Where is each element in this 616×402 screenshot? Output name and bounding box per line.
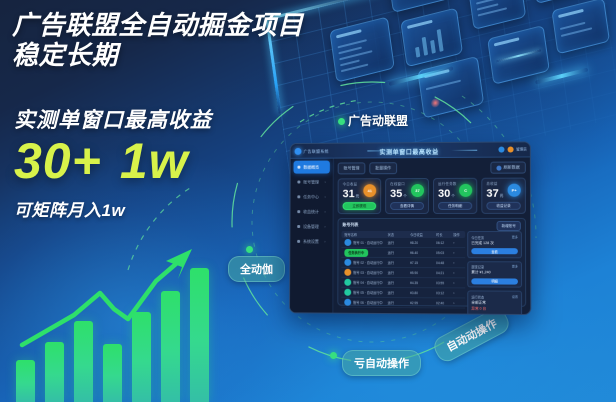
cell-status: 运行 — [388, 270, 407, 275]
info-card-value: 已完成 128 次 — [471, 241, 518, 246]
table-column-header: 操作 — [453, 232, 462, 237]
sidebar-item-label: 账号管理 — [303, 179, 319, 185]
stat-badge: C — [459, 184, 472, 197]
sidebar-item-4[interactable]: 设备管理› — [293, 220, 329, 233]
sidebar-item-5[interactable]: 系统设置› — [293, 235, 329, 248]
info-card-button[interactable]: 查看 — [471, 248, 518, 254]
sidebar-item-label: 任务中心 — [303, 194, 319, 200]
pill-auto-operation-bottom: 亏自动操作 — [342, 350, 421, 376]
cell-income: ¥2.95 — [410, 301, 433, 305]
cell-action[interactable]: › — [453, 281, 462, 285]
subheadline: 实测单窗口最高收益 — [14, 104, 212, 134]
filter-chip-row[interactable]: 账号管理批量操作刷新数据 — [338, 161, 526, 174]
headline-line-2: 稳定长期 — [12, 40, 412, 70]
cell-income: ¥8.20 — [410, 241, 433, 245]
big-number-left: 30+ — [14, 133, 102, 189]
table-column-header: 状态 — [388, 232, 407, 237]
stat-card-1: 在线窗口35 个37查看详情 — [385, 178, 429, 214]
info-card-value: 累计 ¥1,240 — [471, 270, 518, 275]
cell-income: ¥6.40 — [410, 251, 433, 255]
table-title: 账号列表 — [342, 222, 358, 228]
chevron-right-icon: › — [324, 194, 325, 199]
table-row[interactable]: 账号 06 · 自动运行中运行¥2.9502:40› — [341, 298, 465, 309]
stat-badge: P+ — [508, 184, 521, 197]
info-card-button[interactable]: 明细 — [471, 278, 518, 284]
stat-action-button[interactable]: 收益记录 — [486, 202, 520, 210]
info-card-link[interactable]: 更多 — [512, 235, 518, 239]
cell-duration: 06:12 — [436, 241, 450, 245]
cell-status: 运行 — [388, 240, 407, 245]
refresh-icon — [496, 165, 501, 170]
cell-income: ¥3.80 — [410, 291, 433, 295]
note-text: 可矩阵月入1w — [14, 196, 125, 221]
info-card-value: 全部正常 — [471, 300, 518, 305]
account-name: 账号 05 · 自动运行中 — [353, 290, 382, 295]
info-card-1: 提现记录累计 ¥1,240明细更多 — [467, 261, 522, 288]
cell-duration: 02:40 — [436, 301, 450, 305]
cell-action[interactable]: › — [453, 301, 462, 305]
sidebar-item-label: 设备管理 — [303, 224, 319, 230]
nav-bullet-icon — [297, 166, 300, 169]
filter-chip-0[interactable]: 账号管理 — [338, 162, 366, 174]
sidebar-item-label: 数据概览 — [303, 164, 319, 170]
ring-node-dot — [338, 118, 345, 125]
page-title: 广告联盟全自动掘金项目 稳定长期 — [12, 10, 412, 70]
nav-bullet-icon — [297, 210, 300, 213]
growth-bar-chart — [16, 227, 226, 402]
title-decor-right — [451, 150, 477, 151]
account-table-card: 账号列表 新增账号 账号名称状态今日收益时长操作 账号 01 · 自动运行中运行… — [337, 218, 526, 307]
dashboard-logo: 广告联盟系统 — [295, 148, 329, 155]
cell-income: ¥4.35 — [410, 281, 433, 285]
chevron-right-icon: › — [324, 209, 325, 214]
cell-account: 账号 05 · 自动运行中 — [344, 289, 384, 296]
table-row[interactable]: 账号 02 · 自动运行中运行¥7.1504:48› — [341, 258, 465, 268]
trend-arrow-icon — [16, 227, 226, 402]
avatar — [344, 279, 351, 286]
dashboard-mockup: 广告联盟系统 实测单窗口最高收益 管理员 数据概览账号管理›任务中心›收益统计›… — [289, 141, 531, 315]
cell-account: 账号 02 · 自动运行中 — [344, 259, 384, 266]
account-name: 账号 02 · 自动运行中 — [353, 260, 382, 265]
sidebar-item-label: 收益统计 — [303, 209, 319, 215]
cell-income: ¥7.15 — [410, 261, 433, 265]
status-badge: 任务执行中 — [344, 248, 368, 256]
cell-action[interactable]: › — [453, 261, 462, 265]
info-card-alert: 异常 0 台 — [471, 306, 518, 311]
dashboard-content: 账号管理批量操作刷新数据 今日收益31 元41立即提现在线窗口35 个37查看详… — [333, 157, 530, 314]
sidebar-item-1[interactable]: 账号管理› — [293, 175, 329, 188]
cell-duration: 05:03 — [436, 251, 450, 255]
chevron-right-icon: › — [324, 239, 325, 244]
account-name: 账号 03 · 自动运行中 — [353, 270, 382, 275]
ring-node-dot — [330, 352, 337, 359]
logo-icon — [295, 148, 302, 155]
cell-account: 账号 04 · 自动运行中 — [344, 279, 384, 286]
table-column-header: 账号名称 — [344, 232, 384, 237]
info-card-2: 运行状态全部正常异常 0 台刷新设置 — [467, 290, 522, 315]
big-number-right: 1w — [120, 133, 189, 189]
account-name: 账号 01 · 自动运行中 — [353, 240, 382, 245]
account-name: 账号 04 · 自动运行中 — [353, 280, 382, 285]
highlight-numbers: 30+1w — [14, 134, 189, 188]
cell-action[interactable]: › — [453, 241, 462, 245]
filter-chip-1[interactable]: 批量操作 — [369, 162, 397, 174]
avatar — [344, 239, 351, 246]
cell-income: ¥5.90 — [410, 271, 433, 275]
cell-status: 运行 — [388, 290, 407, 295]
stat-unit: 个 — [402, 194, 406, 198]
nav-bullet-icon — [297, 225, 300, 228]
stat-card-2: 运行任务数30 个C任务明细 — [433, 178, 477, 214]
cell-account: 账号 01 · 自动运行中 — [344, 239, 384, 246]
add-account-button[interactable]: 新增账号 — [497, 221, 521, 231]
headline-line-1: 广告联盟全自动掘金项目 — [12, 10, 304, 40]
info-card-link[interactable]: 设置 — [512, 294, 518, 298]
shuffle-icon[interactable] — [498, 147, 504, 153]
cell-account: 账号 03 · 自动运行中 — [344, 269, 384, 276]
chevron-right-icon: › — [325, 179, 326, 184]
info-card-0: 今日任务已完成 128 次查看更多 — [467, 231, 522, 258]
cell-action[interactable]: › — [453, 271, 462, 275]
cell-status: 运行 — [388, 300, 407, 305]
avatar-icon[interactable]: 管理员 — [516, 147, 527, 152]
cell-duration: 03:12 — [436, 291, 450, 295]
stat-card-row: 今日收益31 元41立即提现在线窗口35 个37查看详情运行任务数30 个C任务… — [338, 178, 526, 215]
stat-badge: 37 — [411, 184, 424, 197]
nav-bullet-icon — [297, 240, 300, 243]
sidebar-item-0[interactable]: 数据概览 — [294, 161, 330, 174]
table-row[interactable]: 账号 03 · 自动运行中运行¥5.9004:21› — [341, 268, 465, 278]
refresh-label: 刷新数据 — [504, 165, 520, 171]
avatar — [344, 269, 351, 276]
dashboard-titlebar: 广告联盟系统 实测单窗口最高收益 管理员 — [291, 142, 530, 158]
info-card-link[interactable]: 更多 — [512, 264, 518, 268]
label-ad-alliance: 广告动联盟 — [348, 112, 408, 129]
cell-action[interactable]: › — [453, 291, 462, 295]
stat-card-3: 总收益37 元P+收益记录 — [481, 178, 526, 214]
gear-icon[interactable] — [507, 146, 513, 152]
stat-unit: 个 — [450, 194, 455, 198]
stat-action-button[interactable]: 任务明细 — [438, 202, 472, 210]
dashboard-sidebar[interactable]: 数据概览账号管理›任务中心›收益统计›设备管理›系统设置› — [290, 159, 334, 313]
table-body: 账号 01 · 自动运行中运行¥8.2006:12›任务执行中运行¥6.4005… — [341, 238, 465, 309]
avatar — [344, 259, 351, 266]
stat-action-button[interactable]: 查看详情 — [390, 202, 424, 210]
refresh-button[interactable]: 刷新数据 — [490, 161, 526, 173]
sidebar-item-label: 系统设置 — [303, 238, 319, 244]
dashboard-title: 实测单窗口最高收益 — [380, 146, 439, 155]
side-info-cards: 今日任务已完成 128 次查看更多提现记录累计 ¥1,240明细更多运行状态全部… — [467, 231, 522, 303]
ring-node-dot — [246, 246, 253, 253]
table-column-header: 今日收益 — [410, 232, 433, 237]
avatar — [344, 289, 351, 296]
stat-action-button[interactable]: 立即提现 — [343, 202, 377, 210]
pill-full-auto: 全动伽 — [228, 256, 285, 282]
nav-bullet-icon — [297, 181, 300, 184]
account-table: 账号名称状态今日收益时长操作 账号 01 · 自动运行中运行¥8.2006:12… — [341, 231, 465, 303]
nav-bullet-icon — [297, 195, 300, 198]
cell-action[interactable]: › — [453, 251, 462, 255]
stat-unit: 元 — [499, 194, 504, 198]
cell-status: 运行 — [388, 250, 407, 255]
cell-duration: 04:48 — [436, 261, 450, 265]
cell-status: 运行 — [388, 280, 407, 285]
table-column-header: 时长 — [436, 232, 450, 237]
stat-unit: 元 — [355, 194, 359, 198]
sidebar-item-2[interactable]: 任务中心› — [293, 190, 329, 203]
table-row[interactable]: 账号 01 · 自动运行中运行¥8.2006:12› — [341, 238, 465, 248]
poster-canvas: 广告联盟全自动掘金项目 稳定长期 实测单窗口最高收益 30+1w 可矩阵月入1w… — [0, 0, 616, 402]
table-row[interactable]: 任务执行中运行¥6.4005:03› — [341, 248, 465, 258]
avatar — [344, 299, 351, 306]
chevron-right-icon: › — [324, 224, 325, 229]
table-row[interactable]: 账号 04 · 自动运行中运行¥4.3503:55› — [341, 278, 465, 289]
stat-card-0: 今日收益31 元41立即提现 — [338, 178, 382, 214]
cell-account: 任务执行中 — [344, 248, 384, 256]
logo-label: 广告联盟系统 — [303, 148, 328, 154]
cell-duration: 04:21 — [436, 271, 450, 275]
stat-badge: 41 — [363, 184, 376, 197]
dashboard-toolbar[interactable]: 管理员 — [498, 146, 527, 152]
account-name: 账号 06 · 自动运行中 — [353, 300, 382, 305]
sidebar-item-3[interactable]: 收益统计› — [293, 205, 329, 218]
cell-duration: 03:55 — [436, 281, 450, 285]
cell-account: 账号 06 · 自动运行中 — [344, 299, 384, 306]
cell-status: 运行 — [388, 260, 407, 265]
